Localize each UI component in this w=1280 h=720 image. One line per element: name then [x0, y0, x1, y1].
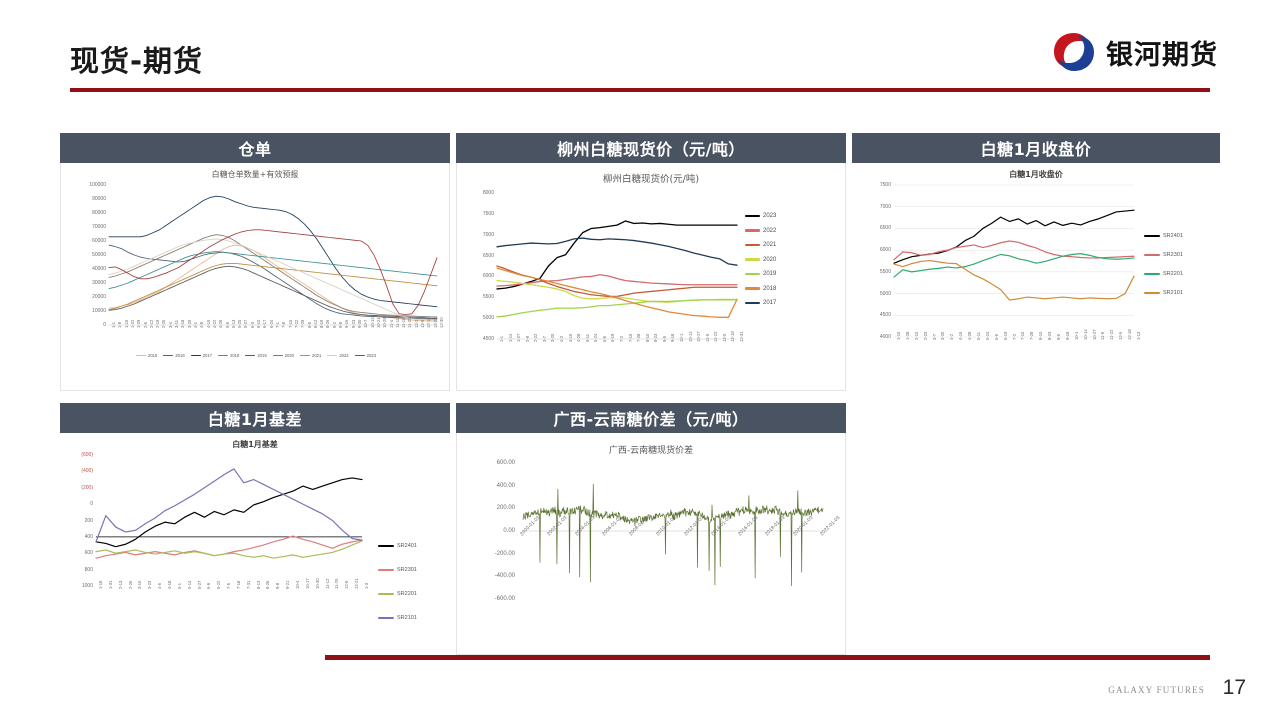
y-axis-tick: 7000: [457, 232, 494, 238]
legend-label: 2017: [203, 353, 212, 358]
y-axis-tick: 5500: [457, 294, 494, 300]
legend-swatch-icon: [191, 355, 201, 357]
x-axis-tick: 12-23: [433, 317, 438, 328]
header-divider: [70, 88, 1210, 92]
x-axis-tick: 5-11: [976, 332, 981, 340]
brand-name: 银河期货: [1106, 33, 1218, 72]
x-axis-tick: 6-9: [206, 583, 211, 589]
x-axis-tick: 3-20: [550, 334, 555, 342]
chart-liuzhou-spot-price: 450050005500600065007000750080001-11-141…: [457, 185, 846, 391]
x-axis-tick: 5-1: [177, 583, 182, 589]
x-axis-tick: 12-18: [730, 331, 735, 342]
x-axis-tick: 7-5: [226, 583, 231, 589]
x-axis-tick: 2-10: [914, 332, 919, 340]
x-axis-tick: 11-25: [407, 318, 412, 328]
x-axis-tick: 1-1: [111, 322, 116, 328]
y-axis-tick: 4500: [852, 312, 891, 318]
x-axis-tick: 10-17: [305, 578, 310, 589]
legend-label: 2021: [763, 242, 776, 248]
legend-label: 2023: [367, 353, 376, 358]
series-line-SR2201: [894, 254, 1134, 277]
y-axis-tick: 1000: [60, 583, 93, 589]
legend-swatch-icon: [745, 302, 760, 304]
x-axis-tick: 7-15: [1020, 332, 1025, 340]
legend-swatch-icon: [163, 355, 173, 357]
legend-item-SR2401[interactable]: SR2401: [1144, 233, 1183, 239]
legend-label: SR2301: [1163, 252, 1183, 258]
x-axis-tick: 8-10: [1038, 332, 1043, 340]
x-axis-tick: 3-7: [932, 334, 937, 340]
x-axis-tick: 8-19: [319, 320, 324, 328]
legend-item-2018[interactable]: 2018: [218, 353, 239, 358]
legend-label: 2019: [763, 271, 776, 277]
x-axis-tick: 7-15: [628, 334, 633, 342]
y-axis-tick: 800: [60, 567, 93, 573]
x-axis-tick: 5-27: [243, 320, 248, 328]
x-axis-tick: 3-20: [940, 332, 945, 340]
x-axis-tick: 1-18: [98, 581, 103, 589]
y-axis-tick: 0.00: [457, 528, 515, 534]
x-axis-tick: 12-31: [739, 331, 744, 342]
x-axis-tick: 4-22: [212, 320, 217, 328]
x-axis-tick: 4-18: [167, 581, 172, 589]
x-axis-tick: 10-27: [696, 331, 701, 342]
x-axis-tick: 2-23: [923, 332, 928, 340]
legend-item-SR2301[interactable]: SR2301: [378, 567, 417, 573]
legend-item-2017[interactable]: 2017: [191, 353, 212, 358]
panel-header-warehouse-receipts: 仓单: [60, 133, 450, 163]
x-axis-tick: 1-15: [896, 332, 901, 340]
x-axis-tick: 8-26: [265, 581, 270, 589]
legend-swatch-icon: [300, 355, 310, 357]
x-axis-tick: 12-5: [722, 334, 727, 342]
chart-legend: SR2401SR2301SR2201SR2101: [1144, 233, 1183, 309]
panel-body-sugar-jan-close: 白糖1月收盘价 40004500500055006000650070007500…: [852, 163, 1220, 401]
legend-swatch-icon: [378, 617, 394, 619]
x-axis-tick: 11-12: [325, 579, 330, 589]
legend-item-SR2101[interactable]: SR2101: [1144, 290, 1183, 296]
panel-header-sugar-jan-close: 白糖1月收盘价: [852, 133, 1220, 163]
chart-legend: 201520162017201820192020202120222023: [61, 353, 450, 358]
x-axis-tick: 5-13: [231, 320, 236, 328]
x-axis-tick: 9-5: [1056, 334, 1061, 340]
x-axis-tick: 8-5: [307, 322, 312, 328]
legend-item-2023[interactable]: 2023: [745, 213, 776, 219]
y-axis-tick: 7500: [457, 211, 494, 217]
y-axis-tick: -600.00: [457, 596, 515, 602]
legend-label: SR2201: [1163, 271, 1183, 277]
x-axis-tick: 11-22: [1109, 330, 1114, 340]
legend-item-SR2301[interactable]: SR2301: [1144, 252, 1183, 258]
galaxy-swirl-icon: [1052, 30, 1096, 74]
x-axis-tick: 5-24: [985, 332, 990, 340]
x-axis-tick: 11-9: [705, 334, 710, 342]
legend-swatch-icon: [218, 355, 228, 357]
legend-label: SR2401: [397, 543, 417, 549]
x-axis-tick: 7-8: [281, 322, 286, 328]
chart-svg-guangxi-yunnan-spread: [457, 455, 846, 655]
x-axis-tick: 1-15: [124, 320, 129, 328]
panel-warehouse-receipts: 仓单 白糖仓单数量+有效预报 0100002000030000400005000…: [60, 133, 450, 391]
x-axis-tick: 1-14: [508, 334, 513, 342]
chart-legend: 2023202220212020201920182017: [745, 213, 776, 315]
x-axis-tick: 4-1: [193, 322, 198, 328]
legend-swatch-icon: [1144, 235, 1160, 237]
x-axis-tick: 8-12: [313, 320, 318, 328]
x-axis-tick: 6-3: [250, 322, 255, 328]
x-axis-tick: 6-24: [269, 320, 274, 328]
panel-liuzhou-spot-price: 柳州白糖现货价（元/吨） 柳州白糖现货价(元/吨) 45005000550060…: [456, 133, 846, 391]
x-axis-tick: 1-3: [364, 583, 369, 589]
panel-body-warehouse-receipts: 白糖仓单数量+有效预报 0100002000030000400005000060…: [60, 163, 450, 391]
x-axis-tick: 4-2: [949, 334, 954, 340]
y-axis-tick: 200: [60, 518, 93, 524]
x-axis-tick: 3-7: [542, 336, 547, 342]
legend-swatch-icon: [378, 545, 394, 547]
x-axis-tick: 2-22: [533, 334, 538, 342]
legend-label: 2020: [763, 257, 776, 263]
y-axis-tick: -400.00: [457, 573, 515, 579]
legend-label: SR2101: [1163, 290, 1183, 296]
x-axis-tick: 2-5: [143, 322, 148, 328]
x-axis-tick: 10-7: [363, 320, 368, 328]
y-axis-tick: 30000: [61, 280, 106, 286]
y-axis-tick: 400: [60, 534, 93, 540]
series-line-2020: [497, 281, 737, 303]
brand-logo: 银河期货: [1052, 30, 1218, 74]
x-axis-tick: 4-15: [958, 332, 963, 340]
x-axis-tick: 6-22: [216, 581, 221, 589]
chart-title-liuzhou-spot-price: 柳州白糖现货价(元/吨): [457, 163, 845, 185]
legend-swatch-icon: [745, 244, 760, 246]
y-axis-tick: 100000: [61, 182, 106, 188]
x-axis-tick: 10-14: [1083, 329, 1088, 340]
y-axis-tick: 10000: [61, 308, 106, 314]
series-line-2017: [497, 238, 737, 265]
y-axis-tick: 8000: [457, 190, 494, 196]
y-axis-tick: 60000: [61, 238, 106, 244]
x-axis-tick: 2-9: [525, 336, 530, 342]
x-axis-tick: 2-26: [128, 581, 133, 589]
footer-brand: GALAXY FUTURES: [1108, 685, 1205, 695]
y-axis-tick: 6000: [852, 247, 891, 253]
y-axis-tick: 90000: [61, 196, 106, 202]
x-axis-tick: 7-18: [236, 581, 241, 589]
x-axis-tick: 9-23: [351, 320, 356, 328]
legend-swatch-icon: [378, 593, 394, 595]
legend-item-2015[interactable]: 2015: [136, 353, 157, 358]
x-axis-tick: 7-31: [246, 581, 251, 589]
series-line-2022: [109, 239, 437, 320]
x-axis-tick: 1-31: [108, 581, 113, 589]
legend-label: 2020: [285, 353, 294, 358]
x-axis-tick: 4-29: [218, 320, 223, 328]
x-axis-tick: 9-2: [332, 322, 337, 328]
series-line-2018: [497, 268, 737, 317]
y-axis-tick: 6500: [852, 225, 891, 231]
y-axis-tick: 6000: [457, 273, 494, 279]
x-axis-tick: 6-6: [994, 334, 999, 340]
x-axis-tick: 10-30: [315, 578, 320, 589]
y-axis-tick: 7500: [852, 182, 891, 188]
x-axis-tick: 11-18: [401, 318, 406, 328]
panel-body-guangxi-yunnan-spread: 广西-云南糖现货价差 -600.00-400.00-200.000.00200.…: [456, 433, 846, 655]
x-axis-tick: 4-28: [576, 334, 581, 342]
legend-swatch-icon: [745, 215, 760, 217]
x-axis-tick: 3-18: [180, 320, 185, 328]
legend-item-SR2401[interactable]: SR2401: [378, 543, 417, 549]
x-axis-tick: 3-23: [147, 581, 152, 589]
x-axis-tick: 10-14: [688, 331, 693, 342]
panel-guangxi-yunnan-spread: 广西-云南糖价差（元/吨） 广西-云南糖现货价差 -600.00-400.00-…: [456, 403, 846, 655]
x-axis-tick: 11-9: [1100, 332, 1105, 340]
y-axis-tick: 4500: [457, 336, 494, 342]
x-axis-tick: 10-27: [1092, 329, 1097, 340]
x-axis-tick: 6-19: [610, 334, 615, 342]
x-axis-tick: 7-29: [300, 320, 305, 328]
legend-label: 2015: [148, 353, 157, 358]
legend-item-2016[interactable]: 2016: [163, 353, 184, 358]
x-axis-tick: 1-27: [516, 334, 521, 342]
x-axis-tick: 3-25: [187, 320, 192, 328]
x-axis-tick: 4-2: [559, 336, 564, 342]
x-axis-tick: 1-8: [117, 322, 122, 328]
x-axis-tick: 1-22: [130, 320, 135, 328]
x-axis-tick: 4-28: [967, 332, 972, 340]
legend-item-2018[interactable]: 2018: [745, 286, 776, 292]
legend-item-2020[interactable]: 2020: [745, 257, 776, 263]
x-axis-tick: 1-13: [1136, 332, 1141, 340]
legend-item-SR2101[interactable]: SR2101: [378, 615, 417, 621]
y-axis-tick: 6500: [457, 253, 494, 259]
series-line-SR2401: [96, 478, 362, 547]
series-line-SR2401: [894, 210, 1134, 263]
y-axis-tick: 50000: [61, 252, 106, 258]
x-axis-tick: 11-4: [389, 320, 394, 328]
panel-header-guangxi-yunnan-spread: 广西-云南糖价差（元/吨）: [456, 403, 846, 433]
x-axis-tick: 7-22: [294, 320, 299, 328]
x-axis-tick: 5-24: [593, 334, 598, 342]
x-axis-tick: 5-20: [237, 320, 242, 328]
legend-swatch-icon: [1144, 292, 1160, 294]
legend-label: 2016: [175, 353, 184, 358]
x-axis-tick: 12-30: [439, 317, 444, 328]
x-axis-tick: 4-15: [206, 320, 211, 328]
x-axis-tick: 11-25: [334, 579, 339, 589]
y-axis-tick: 0: [60, 501, 93, 507]
x-axis-tick: 7-28: [636, 334, 641, 342]
x-axis-tick: 12-2: [414, 320, 419, 328]
series-line-spread: [523, 484, 823, 586]
legend-label: 2022: [339, 353, 348, 358]
x-axis-tick: 5-14: [187, 581, 192, 589]
y-axis-tick: 5000: [852, 291, 891, 297]
x-axis-tick: 12-16: [426, 317, 431, 328]
y-axis-tick: 600: [60, 550, 93, 556]
legend-label: SR2301: [397, 567, 417, 573]
x-axis-tick: 5-6: [225, 322, 230, 328]
x-axis-tick: 6-10: [256, 320, 261, 328]
chart-legend: SR2401SR2301SR2201SR2101: [378, 543, 417, 639]
series-line-SR2101: [894, 261, 1134, 301]
x-axis-tick: 10-21: [376, 317, 381, 328]
x-axis-tick: 9-5: [662, 336, 667, 342]
legend-item-2021[interactable]: 2021: [300, 353, 321, 358]
legend-label: 2023: [763, 213, 776, 219]
panel-header-sugar-jan-basis: 白糖1月基差: [60, 403, 450, 433]
legend-label: 2022: [763, 228, 776, 234]
legend-item-2022[interactable]: 2022: [745, 228, 776, 234]
y-axis-tick: (400): [60, 468, 93, 474]
legend-item-2022[interactable]: 2022: [327, 353, 348, 358]
legend-item-SR2201[interactable]: SR2201: [1144, 271, 1183, 277]
chart-warehouse-receipts: 0100002000030000400005000060000700008000…: [61, 177, 450, 391]
x-axis-tick: 10-14: [370, 317, 375, 328]
x-axis-tick: 4-15: [568, 334, 573, 342]
chart-sugar-jan-basis: 10008006004002000(200)(400)(600)1-181-31…: [60, 447, 450, 648]
legend-item-SR2201[interactable]: SR2201: [378, 591, 417, 597]
series-line-SR2101: [96, 469, 362, 542]
x-axis-tick: 10-1: [1074, 332, 1079, 340]
legend-swatch-icon: [745, 229, 760, 231]
x-axis-tick: 12-21: [354, 578, 359, 589]
x-axis-tick: 9-18: [1065, 332, 1070, 340]
x-axis-tick: 7-15: [288, 320, 293, 328]
x-axis-tick: 2-12: [149, 320, 154, 328]
x-axis-tick: 6-19: [1003, 332, 1008, 340]
legend-swatch-icon: [327, 355, 337, 357]
legend-swatch-icon: [1144, 254, 1160, 256]
series-line-2023: [109, 230, 437, 315]
chart-guangxi-yunnan-spread: -600.00-400.00-200.000.00200.00400.00600…: [457, 455, 846, 655]
legend-item-2019[interactable]: 2019: [745, 271, 776, 277]
x-axis-tick: 6-17: [262, 320, 267, 328]
legend-swatch-icon: [136, 355, 146, 357]
x-axis-tick: 12-5: [1118, 332, 1123, 340]
y-axis-tick: 200.00: [457, 505, 515, 511]
legend-label: SR2201: [397, 591, 417, 597]
y-axis-tick: 600.00: [457, 460, 515, 466]
x-axis-tick: 4-8: [199, 322, 204, 328]
legend-label: 2021: [312, 353, 321, 358]
y-axis-tick: 80000: [61, 210, 106, 216]
series-line-2020: [109, 252, 437, 289]
x-axis-tick: 9-9: [338, 322, 343, 328]
series-line-2019: [497, 300, 737, 317]
page-number: 17: [1223, 676, 1246, 700]
x-axis-tick: 11-22: [713, 332, 718, 342]
y-axis-tick: (600): [60, 452, 93, 458]
legend-item-2020[interactable]: 2020: [273, 353, 294, 358]
legend-swatch-icon: [273, 355, 283, 357]
x-axis-tick: 7-1: [275, 322, 280, 328]
x-axis-tick: 6-6: [602, 336, 607, 342]
x-axis-tick: 8-13: [256, 581, 261, 589]
legend-swatch-icon: [355, 355, 365, 357]
x-axis-tick: 7-28: [1029, 332, 1034, 340]
panel-sugar-jan-basis: 白糖1月基差 白糖1月基差 10008006004002000(200)(400…: [60, 403, 450, 648]
x-axis-tick: 10-4: [295, 581, 300, 589]
chart-sugar-jan-close: 400045005000550060006500700075001-151-28…: [852, 177, 1220, 401]
y-axis-tick: (200): [60, 485, 93, 491]
x-axis-tick: 12-18: [1127, 329, 1132, 340]
x-axis-tick: 1-1: [499, 336, 504, 342]
y-axis-tick: 70000: [61, 224, 106, 230]
legend-label: SR2101: [397, 615, 417, 621]
x-axis-tick: 3-4: [168, 322, 173, 328]
legend-item-2019[interactable]: 2019: [245, 353, 266, 358]
x-axis-tick: 2-13: [118, 581, 123, 589]
x-axis-tick: 4-5: [157, 583, 162, 589]
legend-item-2023[interactable]: 2023: [355, 353, 376, 358]
legend-swatch-icon: [745, 287, 760, 289]
x-axis-tick: 12-9: [420, 320, 425, 328]
legend-swatch-icon: [245, 355, 255, 357]
x-axis-tick: 3-10: [137, 581, 142, 589]
panel-body-sugar-jan-basis: 白糖1月基差 10008006004002000(200)(400)(600)1…: [60, 433, 450, 648]
chart-svg-liuzhou-spot-price: [457, 185, 846, 391]
x-axis-tick: 7-2: [1012, 334, 1017, 340]
series-line-2016: [109, 245, 437, 319]
x-axis-tick: 10-28: [382, 317, 387, 328]
x-axis-tick: 8-10: [645, 334, 650, 342]
x-axis-tick: 8-23: [653, 334, 658, 342]
legend-label: 2019: [257, 353, 266, 358]
x-axis-tick: 9-16: [344, 320, 349, 328]
page-title: 现货-期货: [70, 38, 203, 80]
legend-item-2021[interactable]: 2021: [745, 242, 776, 248]
legend-swatch-icon: [378, 569, 394, 571]
x-axis-tick: 11-11: [395, 318, 400, 328]
y-axis-tick: 400.00: [457, 483, 515, 489]
legend-swatch-icon: [745, 258, 760, 260]
x-axis-tick: 8-23: [1047, 332, 1052, 340]
legend-swatch-icon: [745, 273, 760, 275]
y-axis-tick: 7000: [852, 204, 891, 210]
legend-swatch-icon: [1144, 273, 1160, 275]
panel-header-liuzhou-spot-price: 柳州白糖现货价（元/吨）: [456, 133, 846, 163]
x-axis-tick: 10-1: [679, 334, 684, 342]
x-axis-tick: 5-11: [585, 334, 590, 342]
legend-item-2017[interactable]: 2017: [745, 300, 776, 306]
legend-label: SR2401: [1163, 233, 1183, 239]
legend-label: 2017: [763, 300, 776, 306]
x-axis-tick: 8-26: [325, 320, 330, 328]
y-axis-tick: 5000: [457, 315, 494, 321]
x-axis-tick: 7-2: [619, 336, 624, 342]
x-axis-tick: 1-28: [905, 332, 910, 340]
x-axis-tick: 12-8: [344, 581, 349, 589]
x-axis-tick: 2-19: [155, 320, 160, 328]
panel-sugar-jan-close: 白糖1月收盘价 白糖1月收盘价 400045005000550060006500…: [852, 133, 1220, 401]
y-axis-tick: -200.00: [457, 551, 515, 557]
y-axis-tick: 4000: [852, 334, 891, 340]
x-axis-tick: 2-26: [161, 320, 166, 328]
x-axis-tick: 9-30: [357, 320, 362, 328]
y-axis-tick: 40000: [61, 266, 106, 272]
chart-title-guangxi-yunnan-spread: 广西-云南糖现货价差: [457, 433, 845, 456]
chart-svg-warehouse-receipts: [61, 177, 450, 391]
y-axis-tick: 20000: [61, 294, 106, 300]
footer-divider: [325, 655, 1210, 660]
y-axis-tick: 0: [61, 322, 106, 328]
x-axis-tick: 5-27: [197, 581, 202, 589]
series-line-SR2201: [96, 541, 362, 558]
x-axis-tick: 9-8: [275, 583, 280, 589]
x-axis-tick: 9-18: [670, 334, 675, 342]
x-axis-tick: 1-29: [136, 320, 141, 328]
slide-header: 现货-期货 银河期货: [0, 0, 1280, 96]
